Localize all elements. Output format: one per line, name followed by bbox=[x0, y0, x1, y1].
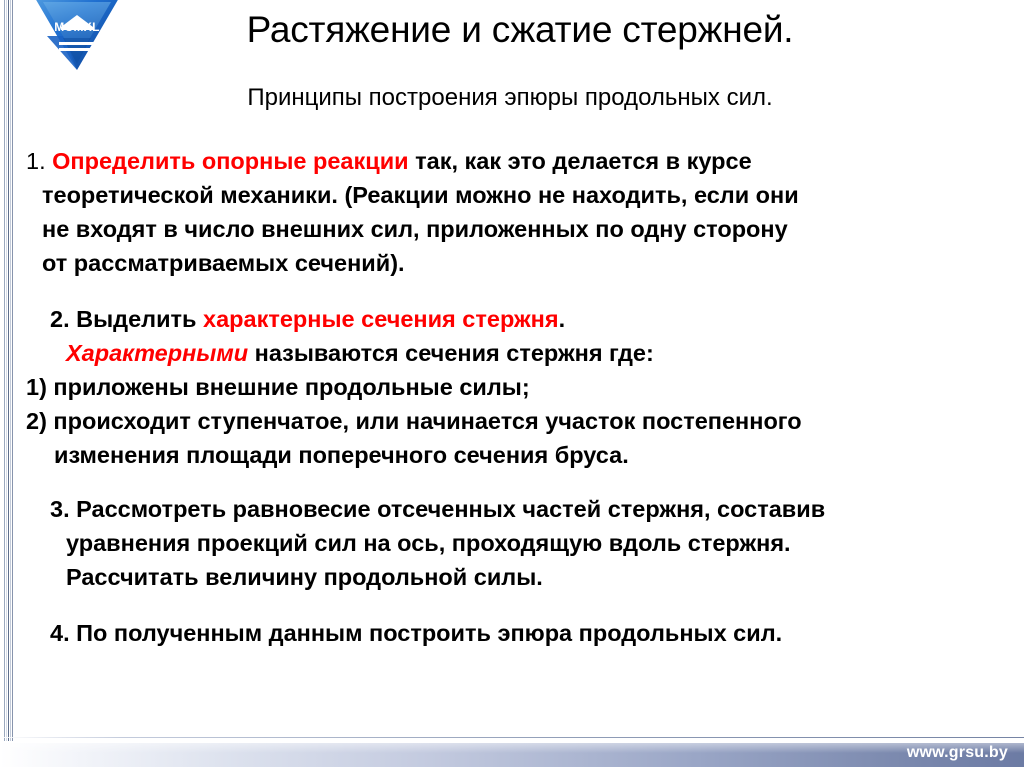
spacer-2 bbox=[26, 472, 998, 492]
item1-red-lead: Определить опорные реакции bbox=[52, 148, 408, 174]
item2-sub-2-line1: 2) происходит ступенчатое, или начинаетс… bbox=[26, 404, 998, 438]
list-item-4: 4. По полученным данным построить эпюра … bbox=[26, 616, 998, 650]
left-rule-1 bbox=[4, 0, 5, 741]
item2-definition-rest: называются сечения стержня где: bbox=[248, 340, 654, 366]
slide-body: 1. Определить опорные реакции так, как э… bbox=[26, 144, 998, 650]
item1-line1: 1. Определить опорные реакции так, как э… bbox=[26, 144, 998, 178]
slide-footer: www.grsu.by bbox=[0, 729, 1024, 767]
footer-hairline bbox=[0, 737, 1024, 738]
page-title: Растяжение и сжатие стержней. bbox=[150, 9, 890, 51]
footer-website-url[interactable]: www.grsu.by bbox=[907, 744, 1008, 762]
item1-line3: не входят в число внешних сил, приложенн… bbox=[26, 212, 998, 246]
item3-line1-text: Рассмотреть равновесие отсеченных частей… bbox=[70, 496, 826, 522]
item3-line2: уравнения проекций сил на ось, проходящу… bbox=[26, 526, 998, 560]
grsu-logo: MCMXL bbox=[33, 0, 121, 78]
item4-text: По полученным данным построить эпюра про… bbox=[70, 620, 783, 646]
item4-number: 4. bbox=[50, 620, 70, 646]
left-rule-3 bbox=[8, 0, 9, 741]
item2-red-italic-term: Характерными bbox=[66, 340, 248, 366]
item1-number: 1. bbox=[26, 148, 46, 174]
item1-line1-rest: так, как это делается в курсе bbox=[409, 148, 752, 174]
left-border-rules bbox=[0, 0, 16, 741]
item2-sub-1: 1) приложены внешние продольные силы; bbox=[26, 370, 998, 404]
item2-number: 2. bbox=[50, 306, 70, 332]
list-item-1: 1. Определить опорные реакции так, как э… bbox=[26, 144, 998, 280]
item1-line4: от рассматриваемых сечений). bbox=[26, 246, 998, 280]
item3-line1: 3. Рассмотреть равновесие отсеченных час… bbox=[26, 492, 998, 526]
slide-canvas: MCMXL Растяжение и сжатие стержней. Прин… bbox=[0, 0, 1024, 767]
page-subtitle: Принципы построения эпюры продольных сил… bbox=[130, 84, 890, 112]
item3-number: 3. bbox=[50, 496, 70, 522]
item1-line2: теоретической механики. (Реакции можно н… bbox=[26, 178, 998, 212]
item2-definition-line: Характерными называются сечения стержня … bbox=[26, 336, 998, 370]
item2-red-phrase: характерные сечения стержня bbox=[203, 306, 559, 332]
item2-tail: . bbox=[559, 306, 566, 332]
item3-line3: Рассчитать величину продольной силы. bbox=[26, 560, 998, 594]
spacer-1 bbox=[26, 280, 998, 302]
left-rule-4 bbox=[10, 0, 11, 741]
spacer-3 bbox=[26, 594, 998, 616]
grsu-logo-icon bbox=[33, 0, 121, 78]
list-item-2: 2. Выделить характерные сечения стержня.… bbox=[26, 302, 998, 472]
left-rule-5 bbox=[12, 0, 13, 741]
item2-lead: Выделить bbox=[70, 306, 203, 332]
item2-sub-2-line2: изменения площади поперечного сечения бр… bbox=[26, 438, 998, 472]
footer-gradient-bar bbox=[0, 743, 1024, 767]
list-item-3: 3. Рассмотреть равновесие отсеченных час… bbox=[26, 492, 998, 594]
item2-line1: 2. Выделить характерные сечения стержня. bbox=[26, 302, 998, 336]
left-rule-2 bbox=[6, 0, 7, 741]
